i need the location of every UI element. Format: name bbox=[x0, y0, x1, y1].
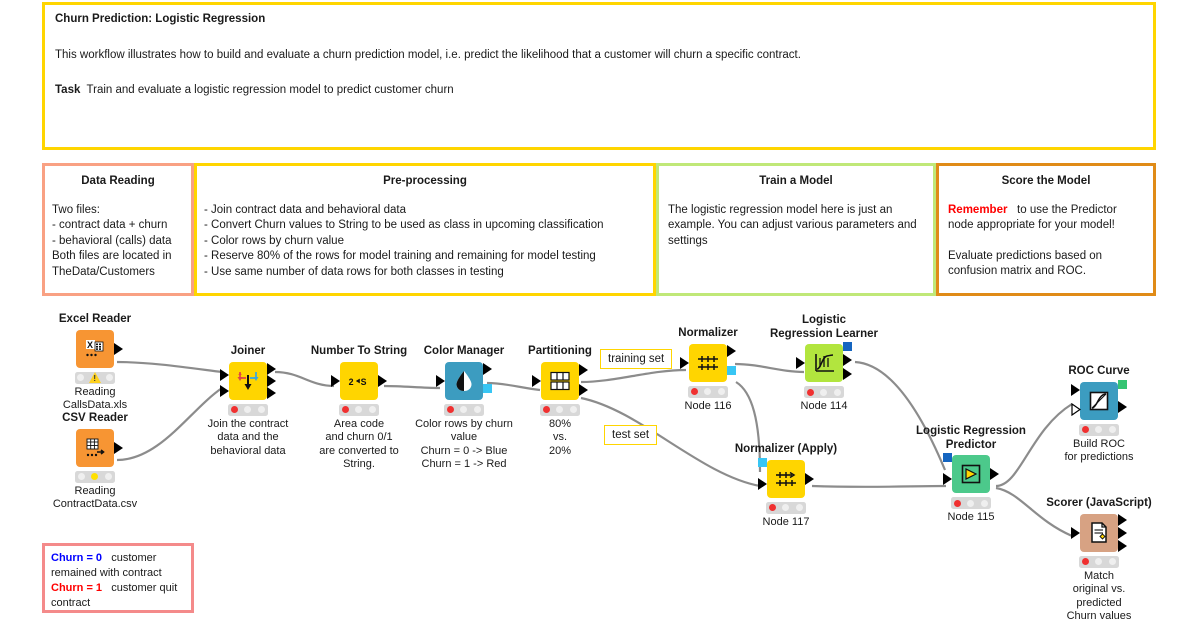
annotation-line: example. You can adjust various paramete… bbox=[668, 218, 924, 234]
status-led-active bbox=[807, 389, 814, 396]
status-led-active bbox=[1082, 558, 1089, 565]
input-port-data[interactable] bbox=[1071, 384, 1080, 396]
input-port-data[interactable] bbox=[758, 478, 767, 490]
status-led bbox=[796, 504, 803, 511]
output-port-normalized-data[interactable] bbox=[727, 345, 736, 357]
status-led bbox=[77, 374, 84, 381]
status-led bbox=[1095, 426, 1102, 433]
status-led bbox=[106, 374, 113, 381]
annotation-line: - behavioral (calls) data bbox=[52, 234, 184, 250]
node-caption: Node 117 bbox=[726, 516, 846, 530]
warning-icon bbox=[89, 372, 101, 383]
input-port-data[interactable] bbox=[532, 375, 541, 387]
status-led bbox=[1095, 558, 1102, 565]
roc-curve-icon bbox=[1087, 389, 1111, 413]
node-status-bar bbox=[75, 471, 115, 483]
status-led-active bbox=[954, 500, 961, 507]
node-title: Number To String bbox=[299, 345, 419, 359]
node-csv-reader[interactable]: CSV Reader Reading ContractData.csv bbox=[35, 412, 155, 512]
node-title: Logistic Regression Learner bbox=[764, 314, 884, 341]
input-port-optional-data[interactable] bbox=[1071, 403, 1081, 416]
header-task-label: Task bbox=[55, 84, 80, 96]
node-caption: Join the contract data and the behaviora… bbox=[188, 418, 308, 459]
node-body[interactable] bbox=[1080, 382, 1118, 420]
annotation-body: Remember to use the Predictor node appro… bbox=[948, 203, 1144, 280]
input-port-training-data[interactable] bbox=[796, 357, 805, 369]
output-port-predictions[interactable] bbox=[990, 468, 999, 480]
status-led bbox=[474, 406, 481, 413]
node-logistic-regression-predictor[interactable]: Logistic Regression Predictor Node 115 bbox=[896, 425, 1046, 525]
status-led bbox=[369, 406, 376, 413]
status-led bbox=[556, 406, 563, 413]
status-led bbox=[782, 504, 789, 511]
annotation-title: Score the Model bbox=[948, 174, 1144, 190]
node-caption: 80% vs. 20% bbox=[500, 418, 620, 459]
status-led bbox=[820, 389, 827, 396]
output-port-right-unmatched[interactable] bbox=[267, 387, 276, 399]
input-port-model[interactable] bbox=[943, 453, 952, 462]
output-port-data[interactable] bbox=[114, 343, 123, 355]
status-led bbox=[105, 473, 112, 480]
excel-reader-icon: X bbox=[83, 337, 107, 361]
output-port-data[interactable] bbox=[114, 442, 123, 454]
output-port-coefficients[interactable] bbox=[843, 354, 852, 366]
annotation-title: Train a Model bbox=[668, 174, 924, 190]
annotation-line: TheData/Customers bbox=[52, 265, 184, 281]
node-status-bar bbox=[339, 404, 379, 416]
node-status-bar bbox=[688, 386, 728, 398]
header-annotation: Churn Prediction: Logistic Regression Th… bbox=[42, 2, 1156, 150]
output-port-normalized-data[interactable] bbox=[805, 473, 814, 485]
csv-reader-icon bbox=[83, 436, 107, 460]
status-led-active bbox=[543, 406, 550, 413]
output-port-confusion-matrix[interactable] bbox=[1118, 514, 1127, 526]
output-port-data[interactable] bbox=[1118, 401, 1127, 413]
status-led bbox=[460, 406, 467, 413]
annotation-line: The logistic regression model here is ju… bbox=[668, 203, 924, 219]
header-title: Churn Prediction: Logistic Regression bbox=[55, 12, 1143, 28]
node-status-bar bbox=[444, 404, 484, 416]
node-caption: Build ROC for predictions bbox=[1039, 438, 1159, 465]
input-port-data[interactable] bbox=[436, 375, 445, 387]
node-caption: Node 115 bbox=[896, 511, 1046, 525]
node-title: CSV Reader bbox=[35, 412, 155, 426]
node-normalizer[interactable]: Normalizer Node 116 bbox=[648, 327, 768, 413]
annotation-body: - Join contract data and behavioral data… bbox=[204, 203, 646, 281]
node-caption: Reading ContractData.csv bbox=[35, 485, 155, 512]
node-body[interactable] bbox=[1080, 514, 1118, 552]
node-body[interactable]: X bbox=[76, 330, 114, 368]
status-led bbox=[1109, 558, 1116, 565]
node-body[interactable] bbox=[689, 344, 727, 382]
normalizer-icon bbox=[696, 351, 720, 375]
annotation-spacer bbox=[948, 234, 1144, 249]
annotation-line: - contract data + churn bbox=[52, 218, 184, 234]
node-body[interactable] bbox=[767, 460, 805, 498]
header-task-line: Task Train and evaluate a logistic regre… bbox=[55, 83, 1143, 99]
status-led bbox=[981, 500, 988, 507]
annotation-data-reading: Data Reading Two files: - contract data … bbox=[42, 163, 194, 296]
node-title: Logistic Regression Predictor bbox=[896, 425, 1046, 452]
partitioning-icon bbox=[548, 369, 572, 393]
node-number-to-string[interactable]: Number To String 2 S Area code and churn… bbox=[299, 345, 419, 472]
node-scorer-javascript[interactable]: Scorer (JavaScript) Match original vs. p… bbox=[1039, 497, 1159, 624]
annotation-score-the-model: Score the Model Remember to use the Pred… bbox=[936, 163, 1156, 296]
output-port-accuracy-statistics[interactable] bbox=[1118, 527, 1127, 539]
annotation-line: node appropriate for your model! bbox=[948, 218, 1144, 234]
node-normalizer-apply[interactable]: Normalizer (Apply) Node 117 bbox=[726, 443, 846, 529]
predictor-icon bbox=[959, 462, 983, 486]
node-body[interactable] bbox=[952, 455, 990, 493]
remember-text: to use the Predictor bbox=[1017, 204, 1117, 216]
svg-text:S: S bbox=[361, 377, 367, 387]
node-body[interactable]: 2 S bbox=[340, 362, 378, 400]
node-status-bar bbox=[951, 497, 991, 509]
status-led bbox=[967, 500, 974, 507]
node-caption: Reading CallsData.xls bbox=[35, 386, 155, 413]
node-caption: Node 114 bbox=[764, 400, 884, 414]
input-port-left-table[interactable] bbox=[220, 369, 229, 381]
node-status-bar bbox=[540, 404, 580, 416]
scorer-icon bbox=[1087, 521, 1111, 545]
learner-icon bbox=[812, 351, 836, 375]
node-roc-curve[interactable]: ROC Curve Build ROC for predictions bbox=[1039, 365, 1159, 465]
output-port-statistics[interactable] bbox=[843, 368, 852, 380]
status-led-active bbox=[231, 406, 238, 413]
annotation-title: Pre-processing bbox=[204, 174, 646, 190]
status-led bbox=[258, 406, 265, 413]
status-led bbox=[718, 388, 725, 395]
annotation-line: settings bbox=[668, 234, 924, 250]
node-joiner[interactable]: Joiner Join the contract data and the be… bbox=[188, 345, 308, 458]
input-port-data[interactable] bbox=[943, 473, 952, 485]
annotation-line: - Convert Churn values to String to be u… bbox=[204, 218, 646, 234]
annotation-title: Data Reading bbox=[52, 174, 184, 190]
input-port-data[interactable] bbox=[1071, 527, 1080, 539]
annotation-remember-line: Remember to use the Predictor bbox=[948, 203, 1144, 219]
node-status-bar bbox=[1079, 424, 1119, 436]
annotation-line: - Color rows by churn value bbox=[204, 234, 646, 250]
output-port-data[interactable] bbox=[483, 363, 492, 375]
annotation-line: - Use same number of data rows for both … bbox=[204, 265, 646, 281]
node-partitioning[interactable]: Partitioning 80% vs. 20% bbox=[500, 345, 620, 458]
node-title: Excel Reader bbox=[35, 313, 155, 327]
output-port-first-partition[interactable] bbox=[579, 364, 588, 376]
output-port-normalization-model[interactable] bbox=[727, 366, 736, 375]
number-to-string-icon: 2 S bbox=[347, 369, 371, 393]
node-body[interactable] bbox=[805, 344, 843, 382]
annotation-body: Two files: - contract data + churn - beh… bbox=[52, 203, 184, 281]
status-led-active bbox=[1082, 426, 1089, 433]
annotation-line: - Join contract data and behavioral data bbox=[204, 203, 646, 219]
joiner-icon bbox=[236, 369, 260, 393]
status-led-active bbox=[691, 388, 698, 395]
output-port-model[interactable] bbox=[843, 342, 852, 351]
remember-label: Remember bbox=[948, 204, 1007, 216]
node-body[interactable] bbox=[541, 362, 579, 400]
node-body[interactable] bbox=[76, 429, 114, 467]
node-caption: Area code and churn 0/1 are converted to… bbox=[299, 418, 419, 472]
node-status-bar bbox=[766, 502, 806, 514]
node-title: ROC Curve bbox=[1039, 365, 1159, 379]
status-led bbox=[244, 406, 251, 413]
status-led bbox=[834, 389, 841, 396]
input-port-normalization-model[interactable] bbox=[758, 458, 767, 467]
status-led-active bbox=[769, 504, 776, 511]
node-title: Scorer (JavaScript) bbox=[1039, 497, 1159, 511]
node-body[interactable] bbox=[445, 362, 483, 400]
annotation-line: - Reserve 80% of the rows for model trai… bbox=[204, 249, 646, 265]
status-led bbox=[704, 388, 711, 395]
node-status-bar bbox=[804, 386, 844, 398]
node-title: Normalizer (Apply) bbox=[726, 443, 846, 457]
input-port-data[interactable] bbox=[680, 357, 689, 369]
normalizer-apply-icon bbox=[774, 467, 798, 491]
annotation-preprocessing: Pre-processing - Join contract data and … bbox=[194, 163, 656, 296]
status-led bbox=[355, 406, 362, 413]
node-status-bar bbox=[75, 372, 115, 384]
node-status-bar bbox=[1079, 556, 1119, 568]
svg-text:2: 2 bbox=[349, 377, 354, 387]
status-led-active bbox=[91, 473, 98, 480]
node-title: Normalizer bbox=[648, 327, 768, 341]
annotation-body: The logistic regression model here is ju… bbox=[668, 203, 924, 250]
output-port-data[interactable] bbox=[378, 375, 387, 387]
node-caption: Match original vs. predicted Churn value… bbox=[1039, 570, 1159, 624]
output-port-color-model[interactable] bbox=[483, 384, 492, 393]
node-title: Joiner bbox=[188, 345, 308, 359]
svg-text:X: X bbox=[87, 340, 93, 350]
annotation-line: Two files: bbox=[52, 203, 184, 219]
workflow-canvas[interactable]: training set test set Excel Reader X Rea… bbox=[0, 300, 1200, 630]
output-port-left-unmatched[interactable] bbox=[267, 375, 276, 387]
status-led-active bbox=[447, 406, 454, 413]
node-logistic-regression-learner[interactable]: Logistic Regression Learner Node 114 bbox=[764, 314, 884, 414]
output-port-image[interactable] bbox=[1118, 540, 1127, 552]
status-led bbox=[1109, 426, 1116, 433]
node-caption: Node 116 bbox=[648, 400, 768, 414]
status-led bbox=[570, 406, 577, 413]
status-led-active bbox=[342, 406, 349, 413]
annotation-train-a-model: Train a Model The logistic regression mo… bbox=[656, 163, 936, 296]
annotation-line: Evaluate predictions based on bbox=[948, 249, 1144, 265]
output-port-second-partition[interactable] bbox=[579, 384, 588, 396]
header-task-text: Train and evaluate a logistic regression… bbox=[87, 84, 454, 96]
header-description: This workflow illustrates how to build a… bbox=[55, 48, 1143, 64]
input-port-right-table[interactable] bbox=[220, 385, 229, 397]
node-title: Partitioning bbox=[500, 345, 620, 359]
node-status-bar bbox=[228, 404, 268, 416]
annotation-line: Both files are located in bbox=[52, 249, 184, 265]
annotation-line: confusion matrix and ROC. bbox=[948, 264, 1144, 280]
status-led bbox=[78, 473, 85, 480]
node-body[interactable] bbox=[229, 362, 267, 400]
droplet-icon bbox=[452, 369, 476, 393]
node-excel-reader[interactable]: Excel Reader X Reading CallsData.xls bbox=[35, 313, 155, 413]
output-port-image[interactable] bbox=[1118, 380, 1127, 389]
input-port-data[interactable] bbox=[331, 375, 340, 387]
output-port-joined[interactable] bbox=[267, 363, 276, 375]
